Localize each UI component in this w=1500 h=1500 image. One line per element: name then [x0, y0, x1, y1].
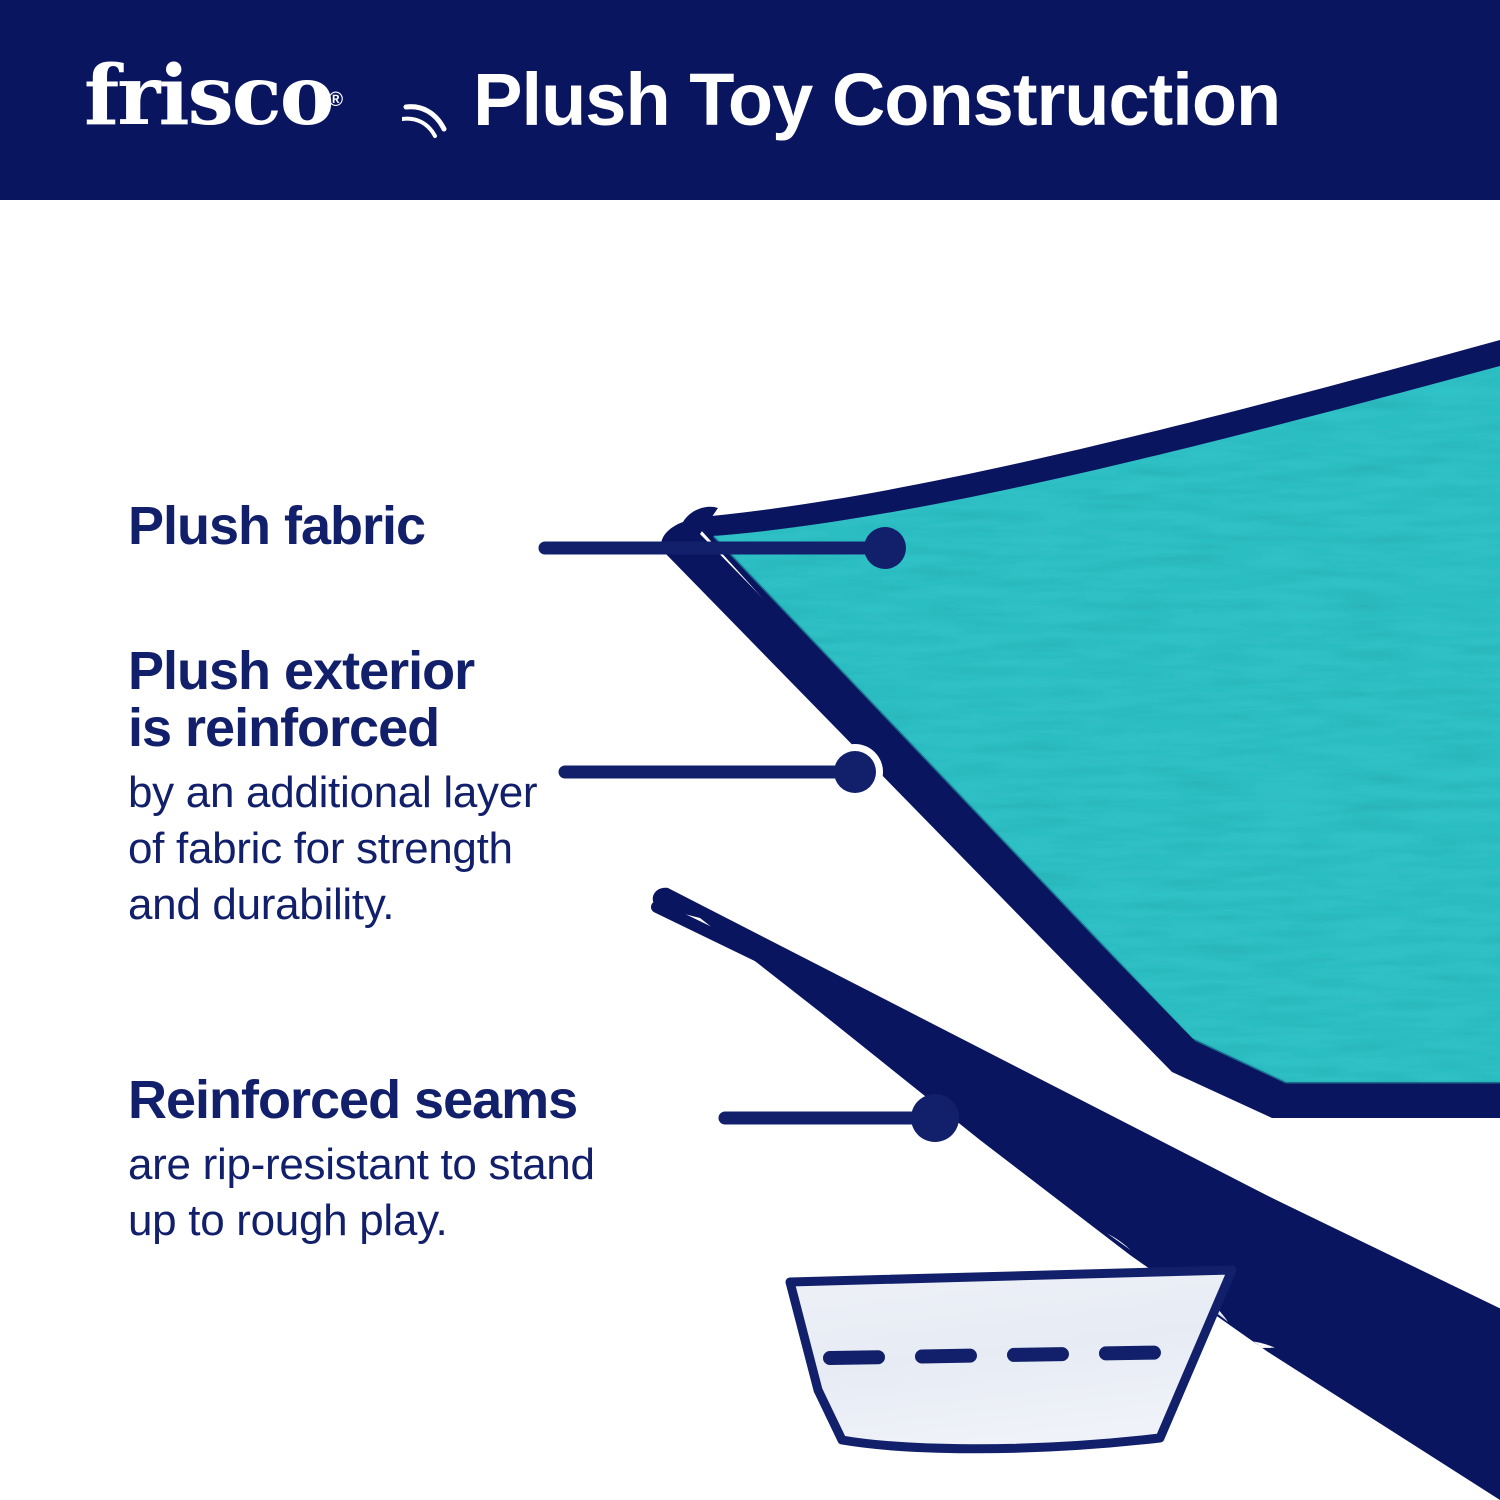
frisco-logo: frisco® [84, 55, 345, 137]
frisco-logo-text: frisco [84, 48, 332, 144]
callout-plush-exterior-headline: Plush exterior is reinforced [128, 643, 537, 757]
callout-reinforced-seams-headline: Reinforced seams [128, 1072, 595, 1129]
page-title: Plush Toy Construction [473, 63, 1280, 137]
callout-plush-exterior: Plush exterior is reinforced by an addit… [128, 643, 537, 933]
leader-plush-exterior [565, 744, 883, 800]
seam-flap-layer [790, 1270, 1232, 1449]
callout-plush-fabric-headline: Plush fabric [128, 498, 425, 555]
frisco-swoosh-icon [402, 103, 448, 145]
registered-trademark-icon: ® [328, 89, 341, 111]
callout-reinforced-seams-body: are rip-resistant to stand up to rough p… [128, 1137, 595, 1249]
header-bar: frisco® Plush Toy Construction [0, 0, 1500, 200]
callout-plush-fabric: Plush fabric [128, 498, 425, 555]
callout-plush-exterior-body: by an additional layer of fabric for str… [128, 765, 537, 933]
leader-reinforced-seams [725, 1094, 959, 1142]
callout-reinforced-seams: Reinforced seams are rip-resistant to st… [128, 1072, 595, 1249]
